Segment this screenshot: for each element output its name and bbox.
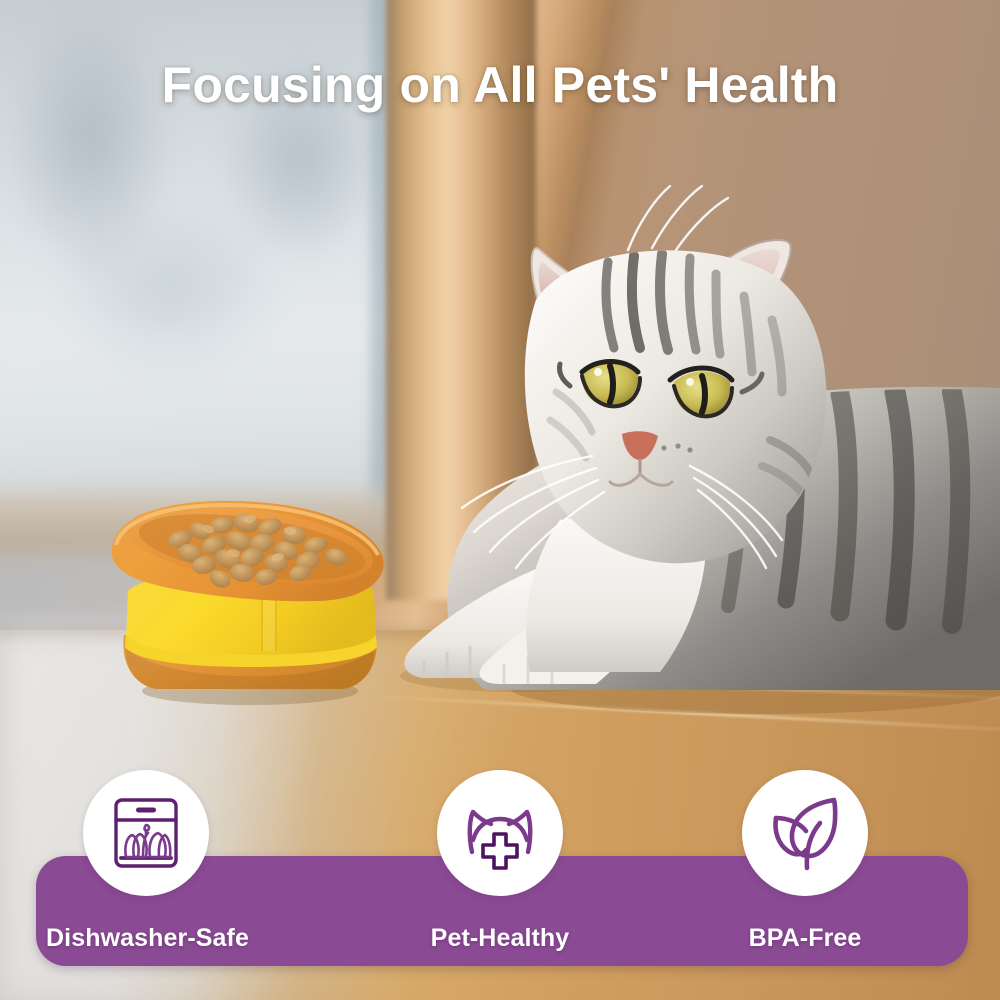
feature-label: BPA-Free xyxy=(705,924,905,953)
pet-food-bowl xyxy=(100,495,400,705)
feature-label: Pet-Healthy xyxy=(400,924,600,953)
leaf-icon xyxy=(762,790,848,876)
product-banner-image: Focusing on All Pets' Health xyxy=(0,0,1000,1000)
feature-item-bpa-free[interactable]: BPA-Free xyxy=(705,770,905,953)
feature-badge xyxy=(83,770,209,896)
feature-item-pet-healthy[interactable]: Pet-Healthy xyxy=(400,770,600,953)
feature-list: Dishwasher-Safe Pet-Healthy xyxy=(36,770,968,970)
feature-item-dishwasher-safe[interactable]: Dishwasher-Safe xyxy=(46,770,246,953)
feature-badge xyxy=(437,770,563,896)
page-title: Focusing on All Pets' Health xyxy=(0,56,1000,114)
feature-badge xyxy=(742,770,868,896)
dishwasher-icon xyxy=(103,790,189,876)
cat-health-icon xyxy=(457,790,543,876)
feature-label: Dishwasher-Safe xyxy=(46,924,246,953)
